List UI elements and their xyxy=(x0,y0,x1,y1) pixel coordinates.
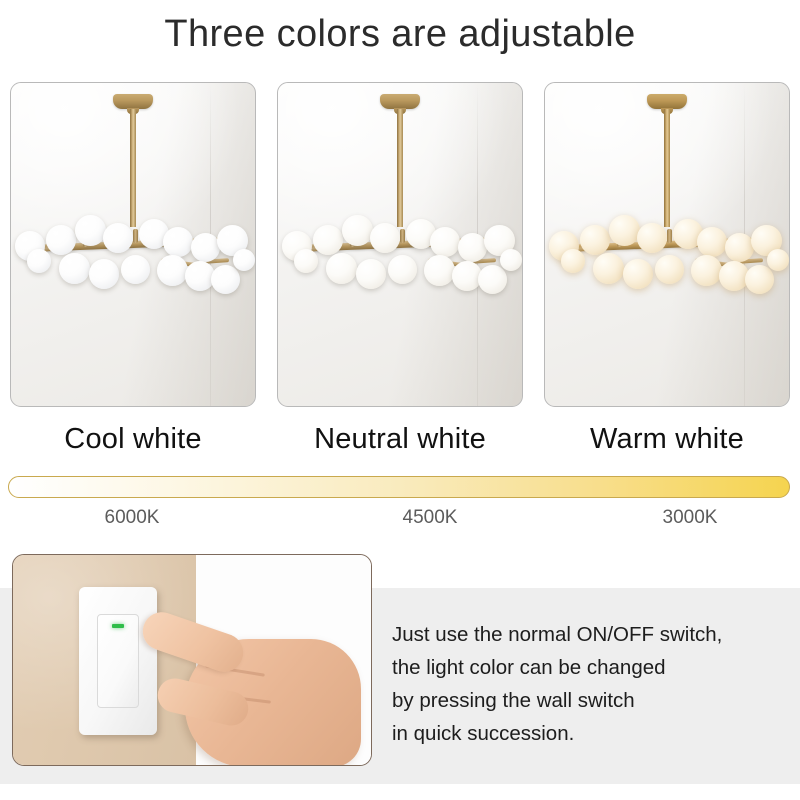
instruction-line-4: in quick succession. xyxy=(392,717,792,750)
led-indicator-icon xyxy=(112,624,124,628)
ceiling-canopy xyxy=(380,94,420,109)
color-mode-label-warm-white: Warm white xyxy=(544,418,790,460)
hand-pressing-switch xyxy=(141,617,371,766)
instruction-line-3: by pressing the wall switch xyxy=(392,684,792,717)
color-mode-label-neutral-white: Neutral white xyxy=(277,418,523,460)
instruction-line-1: Just use the normal ON/OFF switch, xyxy=(392,618,792,651)
color-mode-card-row xyxy=(10,82,790,407)
color-temperature-gradient-bar xyxy=(8,476,790,498)
page-title: Three colors are adjustable xyxy=(0,6,800,62)
ceiling-canopy xyxy=(113,94,153,109)
chandelier-fixture-icon xyxy=(11,83,255,406)
kelvin-label-4500k: 4500K xyxy=(403,504,458,532)
downrod xyxy=(130,109,136,227)
index-finger xyxy=(138,607,249,677)
color-mode-photo-warm-white[interactable] xyxy=(544,82,790,407)
rocker-switch-button[interactable] xyxy=(97,614,139,708)
color-mode-photo-neutral-white[interactable] xyxy=(277,82,523,407)
kelvin-label-6000k: 6000K xyxy=(105,504,160,532)
instruction-line-2: the light color can be changed xyxy=(392,651,792,684)
ceiling-canopy xyxy=(647,94,687,109)
downrod xyxy=(397,109,403,227)
wall-switch-photo[interactable] xyxy=(12,554,372,766)
downrod xyxy=(664,109,670,227)
chandelier-fixture-icon xyxy=(278,83,522,406)
chandelier-fixture-icon xyxy=(545,83,789,406)
color-mode-label-cool-white: Cool white xyxy=(10,418,256,460)
instruction-text-block: Just use the normal ON/OFF switch, the l… xyxy=(392,618,792,750)
kelvin-scale-row: 6000K 4500K 3000K xyxy=(0,504,800,532)
kelvin-label-3000k: 3000K xyxy=(663,504,718,532)
color-mode-label-row: Cool white Neutral white Warm white xyxy=(10,418,790,460)
color-mode-photo-cool-white[interactable] xyxy=(10,82,256,407)
